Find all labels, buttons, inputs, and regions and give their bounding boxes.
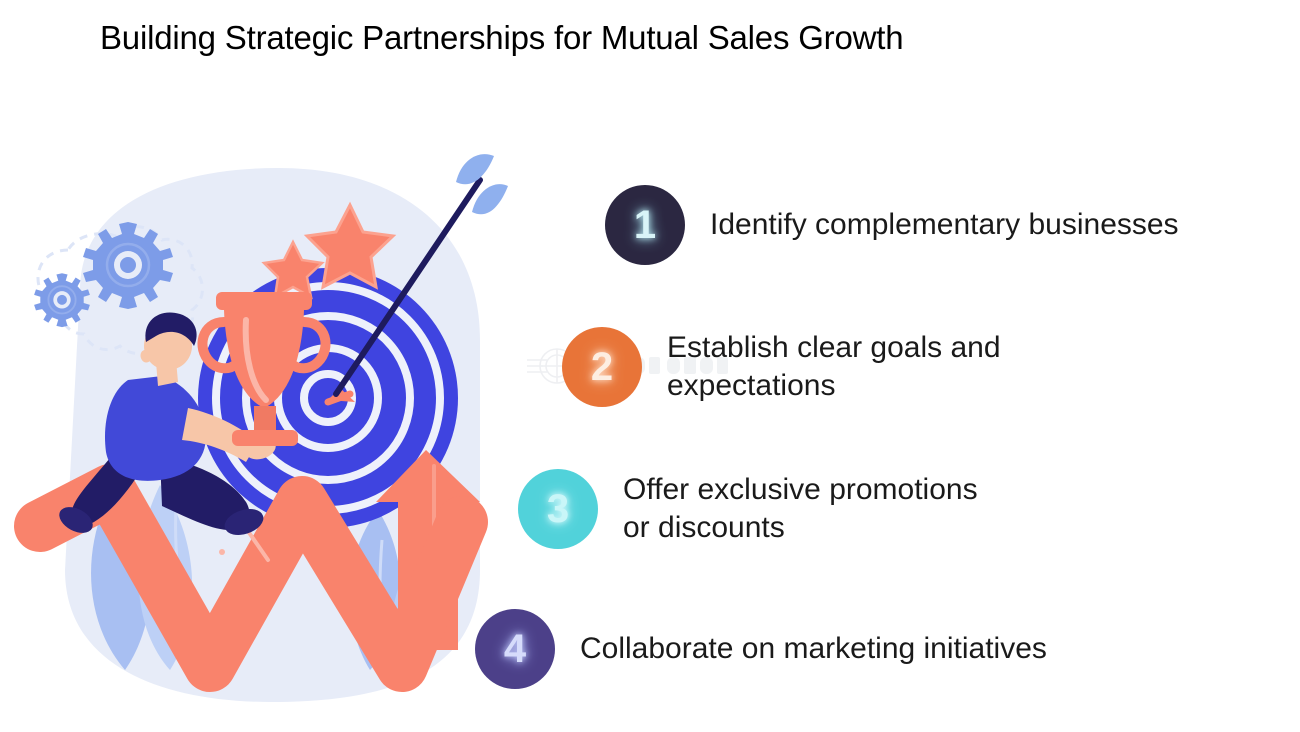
page-title: Building Strategic Partnerships for Mutu… [100, 17, 1200, 59]
step-number-badge-1: 1 [605, 185, 685, 265]
step-number-badge-3: 3 [518, 469, 598, 549]
steps-list: 1 Identify complementary businesses 2 Es… [470, 175, 1290, 705]
step-number-3: 3 [547, 489, 569, 529]
step-number-badge-4: 4 [475, 609, 555, 689]
step-number-badge-2: 2 [562, 327, 642, 407]
step-label-4: Collaborate on marketing initiatives [580, 630, 1047, 668]
step-number-2: 2 [591, 347, 613, 387]
list-item-step-2[interactable]: 2 Establish clear goals and expectations [562, 327, 1047, 407]
list-item-step-4[interactable]: 4 Collaborate on marketing initiatives [475, 609, 1047, 689]
list-item-step-1[interactable]: 1 Identify complementary businesses [605, 185, 1179, 265]
step-number-1: 1 [634, 205, 656, 245]
list-item-step-3[interactable]: 3 Offer exclusive promotions or discount… [518, 469, 1003, 549]
step-label-3: Offer exclusive promotions or discounts [623, 471, 1003, 547]
step-label-2: Establish clear goals and expectations [667, 329, 1047, 405]
step-label-1: Identify complementary businesses [710, 206, 1179, 244]
step-number-4: 4 [504, 629, 526, 669]
goal-achievement-illustration [10, 150, 510, 710]
